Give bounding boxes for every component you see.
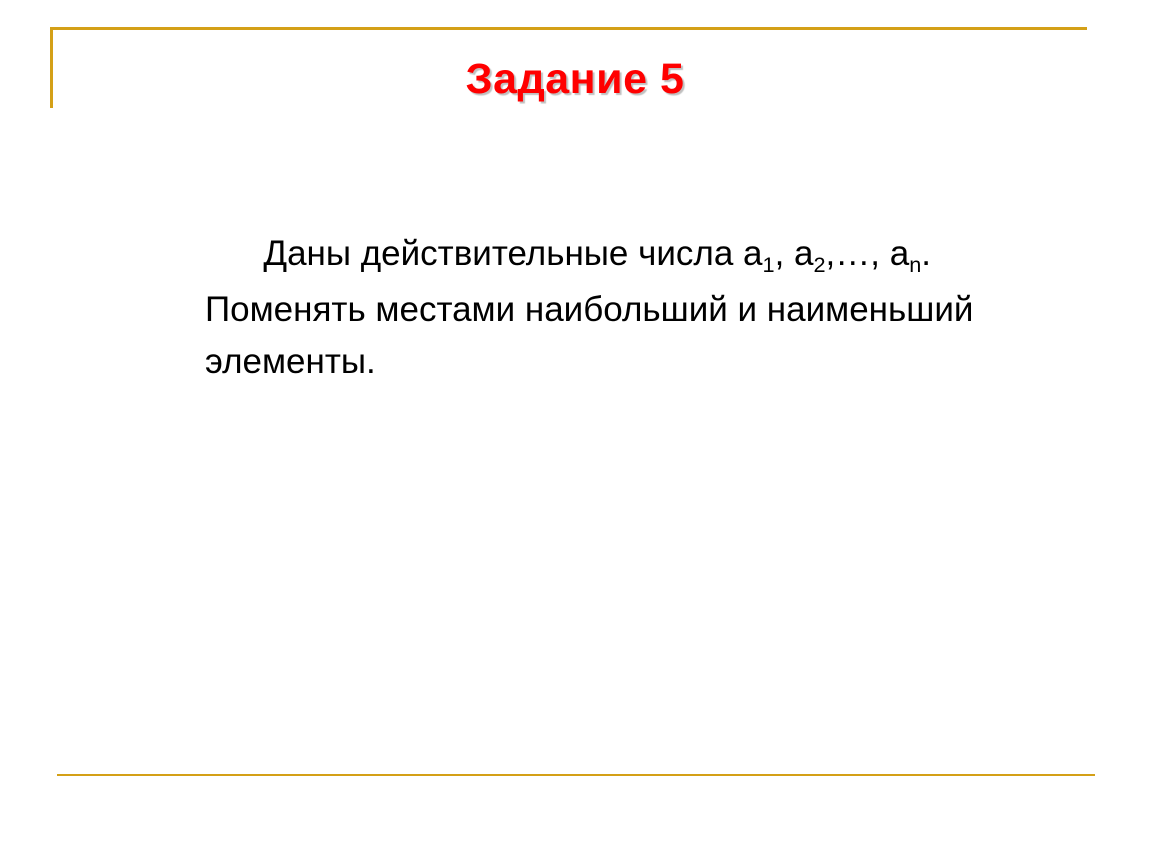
text-segment-4: ,…, a <box>826 234 910 273</box>
subscript-n: n <box>909 252 921 277</box>
subscript-2: 2 <box>813 252 825 277</box>
text-segment-0: Даны действительные числа a <box>263 234 762 273</box>
text-segment-2: , a <box>775 234 814 273</box>
body-area: Даны действительные числа a1, a2,…, an. … <box>205 176 1025 440</box>
task-description: Даны действительные числа a1, a2,…, an. … <box>205 176 1025 440</box>
frame-bottom-rule <box>57 774 1095 776</box>
frame-top-rule <box>50 27 1087 30</box>
subscript-1: 1 <box>763 252 775 277</box>
presentation-slide: Задание 5 Даны действительные числа a1, … <box>0 0 1150 864</box>
slide-title: Задание 5 <box>466 55 685 104</box>
title-area: Задание 5 <box>0 55 1150 104</box>
